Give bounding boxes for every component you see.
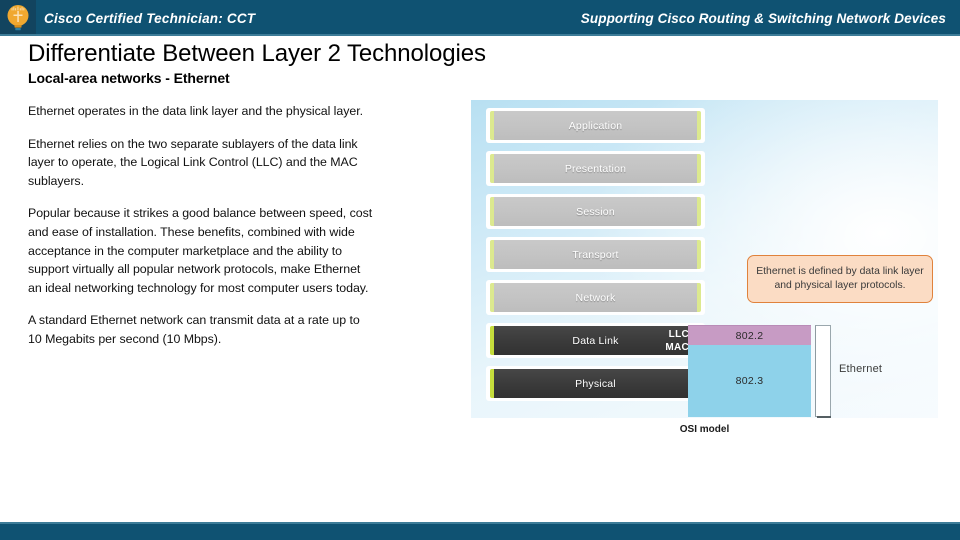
sublayer-llc-label: LLC	[669, 329, 689, 340]
osi-layer-transport: Transport	[486, 237, 705, 272]
osi-layer-label: Data Link	[572, 335, 618, 347]
cisco-lightbulb-logo-icon	[5, 4, 31, 32]
osi-layer-network: Network	[486, 280, 705, 315]
ethernet-callout-box: Ethernet is defined by data link layer a…	[747, 255, 933, 303]
body-paragraph: Ethernet relies on the two separate subl…	[28, 135, 376, 191]
standard-8022-label: 802.2	[736, 330, 764, 342]
osi-layer-box: Physical	[490, 369, 701, 398]
ethernet-bracket	[815, 325, 831, 417]
body-copy: Ethernet operates in the data link layer…	[28, 102, 376, 363]
osi-layer-application: Application	[486, 108, 705, 143]
osi-layer-presentation: Presentation	[486, 151, 705, 186]
data-link-sublayers: LLC MAC	[665, 328, 689, 353]
standard-block-8023: 802.3	[688, 345, 811, 417]
osi-model-figure: Application Presentation Session Transpo…	[471, 100, 938, 418]
osi-layer-label: Application	[569, 120, 623, 132]
osi-layer-box: Session	[490, 197, 701, 226]
osi-layer-label: Transport	[572, 249, 618, 261]
header-program-title: Supporting Cisco Routing & Switching Net…	[581, 0, 946, 36]
osi-layer-box: Transport	[490, 240, 701, 269]
osi-layer-physical: Physical	[486, 366, 705, 401]
footer-bar	[0, 522, 960, 540]
ethernet-callout-text: Ethernet is defined by data link layer a…	[756, 265, 924, 293]
osi-layer-data-link: Data Link LLC MAC	[486, 323, 705, 358]
standard-8023-label: 802.3	[736, 375, 764, 387]
osi-layer-box: Network	[490, 283, 701, 312]
ethernet-bracket-label: Ethernet	[839, 363, 882, 375]
body-paragraph: A standard Ethernet network can transmit…	[28, 311, 376, 348]
osi-layer-box: Data Link LLC MAC	[490, 326, 701, 355]
cisco-lightbulb-logo-badge	[0, 0, 36, 36]
figure-caption: OSI model	[471, 424, 938, 435]
sublayer-mac-label: MAC	[665, 342, 689, 353]
header-bar: Cisco Certified Technician: CCT Supporti…	[0, 0, 960, 36]
standard-block-8022: 802.2	[688, 325, 811, 345]
osi-layer-session: Session	[486, 194, 705, 229]
osi-layer-box: Presentation	[490, 154, 701, 183]
osi-layer-label: Physical	[575, 378, 616, 390]
body-paragraph: Ethernet operates in the data link layer…	[28, 102, 376, 121]
header-course-title: Cisco Certified Technician: CCT	[44, 0, 255, 36]
osi-layer-label: Network	[576, 292, 616, 304]
osi-layer-box: Application	[490, 111, 701, 140]
osi-layer-label: Presentation	[565, 163, 626, 175]
osi-layer-label: Session	[576, 206, 615, 218]
page-subtitle: Local-area networks - Ethernet	[28, 70, 230, 86]
page-title: Differentiate Between Layer 2 Technologi…	[28, 40, 486, 68]
body-paragraph: Popular because it strikes a good balanc…	[28, 204, 376, 297]
